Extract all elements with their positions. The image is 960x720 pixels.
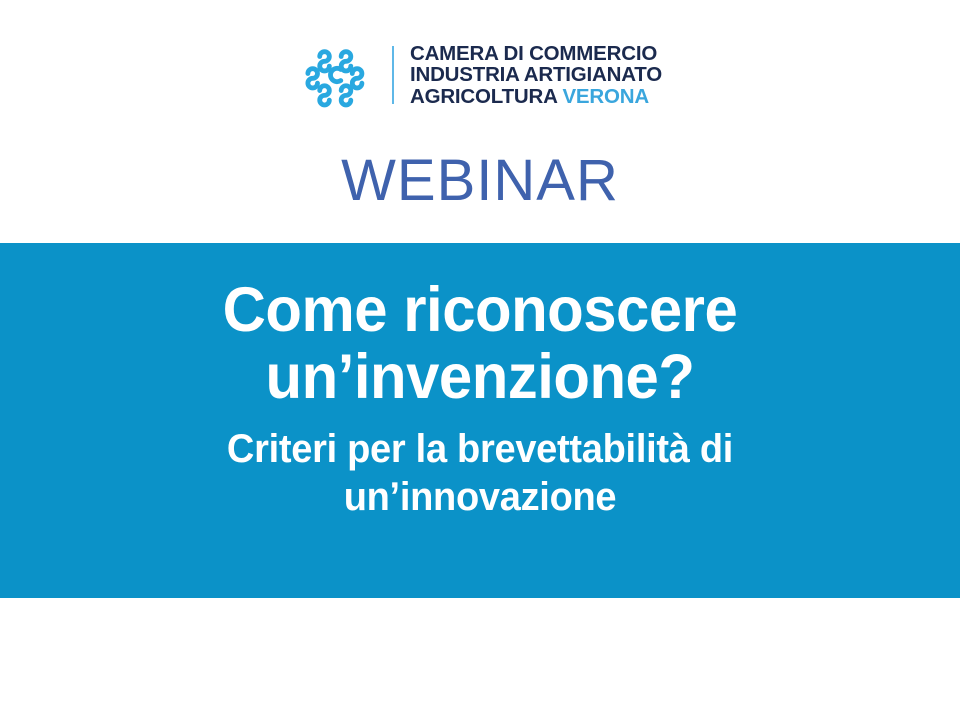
logo-divider: [392, 46, 394, 104]
slide-subtitle: Criteri per la brevettabilità di un’inno…: [24, 425, 936, 523]
slide-subtitle-line-2: un’innovazione: [62, 473, 898, 522]
org-name-line-1: CAMERA DI COMMERCIO: [410, 43, 662, 64]
org-name-line-3: AGRICOLTURA VERONA: [410, 86, 662, 107]
event-type-label: WEBINAR: [0, 152, 960, 210]
slide-header: CAMERA DI COMMERCIO INDUSTRIA ARTIGIANAT…: [0, 0, 960, 243]
org-name-line-3-text: AGRICOLTURA: [410, 85, 562, 108]
slide-title-line-2: un’invenzione?: [62, 344, 898, 411]
slide-title: Come riconoscere un’invenzione?: [24, 277, 936, 411]
camera-di-commercio-rosette-logo-icon: [298, 38, 374, 112]
org-city-label: VERONA: [562, 85, 649, 108]
org-name-line-2: INDUSTRIA ARTIGIANATO: [410, 64, 662, 85]
webinar-title-slide: CAMERA DI COMMERCIO INDUSTRIA ARTIGIANAT…: [0, 0, 960, 720]
title-banner: Come riconoscere un’invenzione? Criteri …: [0, 243, 960, 598]
organization-name: CAMERA DI COMMERCIO INDUSTRIA ARTIGIANAT…: [410, 43, 662, 107]
slide-title-line-1: Come riconoscere: [62, 277, 898, 344]
slide-subtitle-line-1: Criteri per la brevettabilità di: [62, 425, 898, 474]
organization-logo-lockup: CAMERA DI COMMERCIO INDUSTRIA ARTIGIANAT…: [0, 38, 960, 112]
slide-footer-area: [0, 598, 960, 720]
